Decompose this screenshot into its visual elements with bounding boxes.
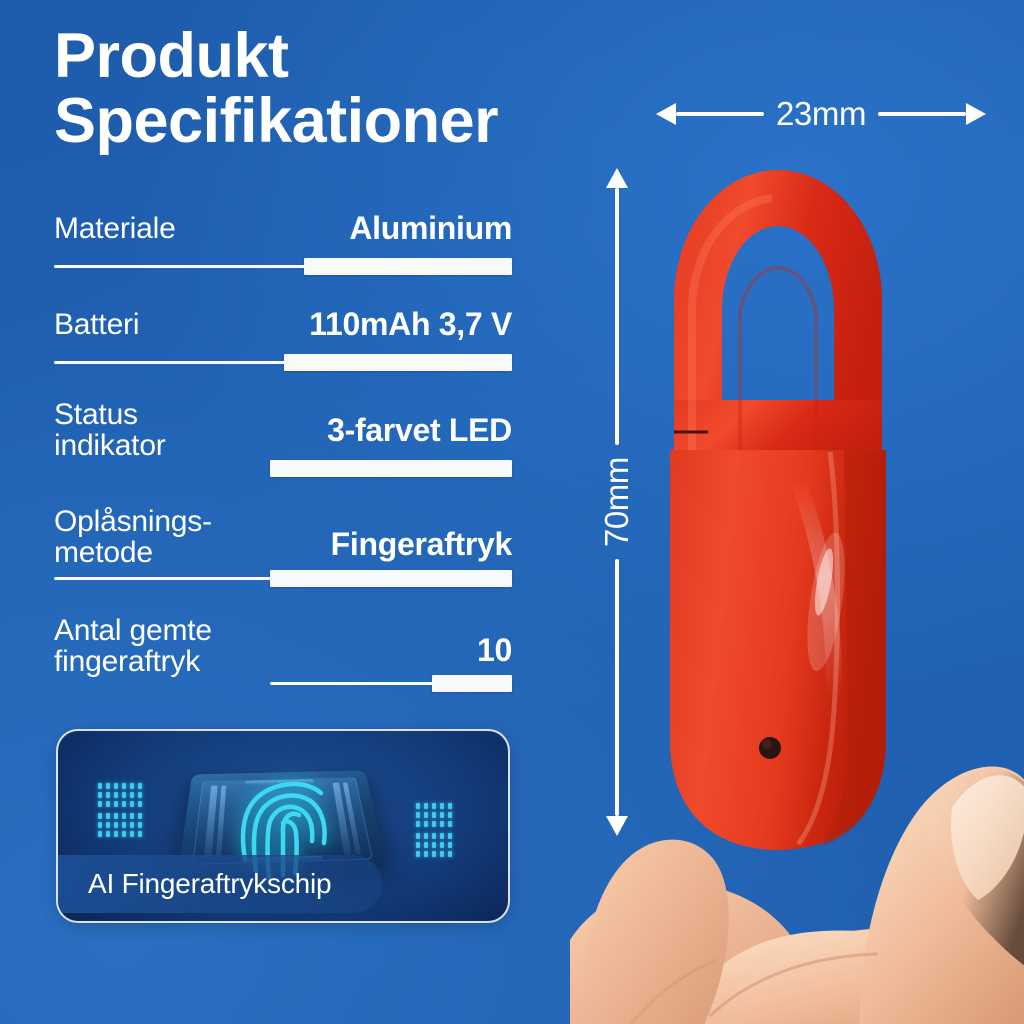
spec-label: Status indikator: [54, 400, 166, 462]
arrow-left-icon: [656, 103, 676, 125]
width-dimension: 23mm: [656, 92, 986, 136]
spec-rule-bar: [432, 675, 512, 692]
ai-chip-card: AI Fingeraftrykschip: [56, 729, 510, 923]
chip-dot-grid-left-2: [98, 813, 142, 837]
chip-caption-banner: AI Fingeraftrykschip: [56, 855, 382, 913]
spec-rule-bar: [304, 258, 512, 275]
spec-value: 110mAh 3,7 V: [309, 306, 512, 343]
chip-dot-grid-right: [416, 803, 452, 827]
infographic-canvas: Produkt Specifikationer Materiale Alumin…: [0, 0, 1024, 1024]
spec-value: Aluminium: [349, 210, 512, 247]
spec-value: 10: [477, 632, 512, 669]
spec-rule-thin: [54, 361, 286, 364]
spec-label: Materiale: [54, 214, 176, 245]
spec-rule-bar: [284, 354, 512, 371]
spec-rule-thin: [54, 265, 306, 268]
spec-rule-thin: [270, 682, 436, 685]
dimension-line: [878, 112, 966, 116]
dimension-line: [615, 188, 619, 445]
spec-rule-bar: [270, 460, 512, 477]
dimension-line: [676, 112, 764, 116]
spec-label: Oplåsnings- metode: [54, 507, 212, 569]
spec-value: 3-farvet LED: [327, 412, 512, 449]
spec-value: Fingeraftryk: [331, 526, 512, 563]
arrow-right-icon: [966, 103, 986, 125]
chip-dot-grid-right-2: [416, 833, 452, 857]
chip-caption-label: AI Fingeraftrykschip: [56, 868, 331, 900]
spec-rule-bar: [270, 570, 512, 587]
product-fingerprint-padlock: [648, 150, 908, 850]
width-dimension-label: 23mm: [764, 95, 878, 133]
spec-label: Antal gemte fingeraftryk: [54, 616, 212, 678]
spec-rule-thin: [54, 577, 274, 580]
page-title: Produkt Specifikationer: [54, 24, 498, 154]
arrow-up-icon: [606, 168, 628, 188]
spec-label: Batteri: [54, 310, 139, 341]
chip-dot-grid-left: [98, 783, 142, 807]
